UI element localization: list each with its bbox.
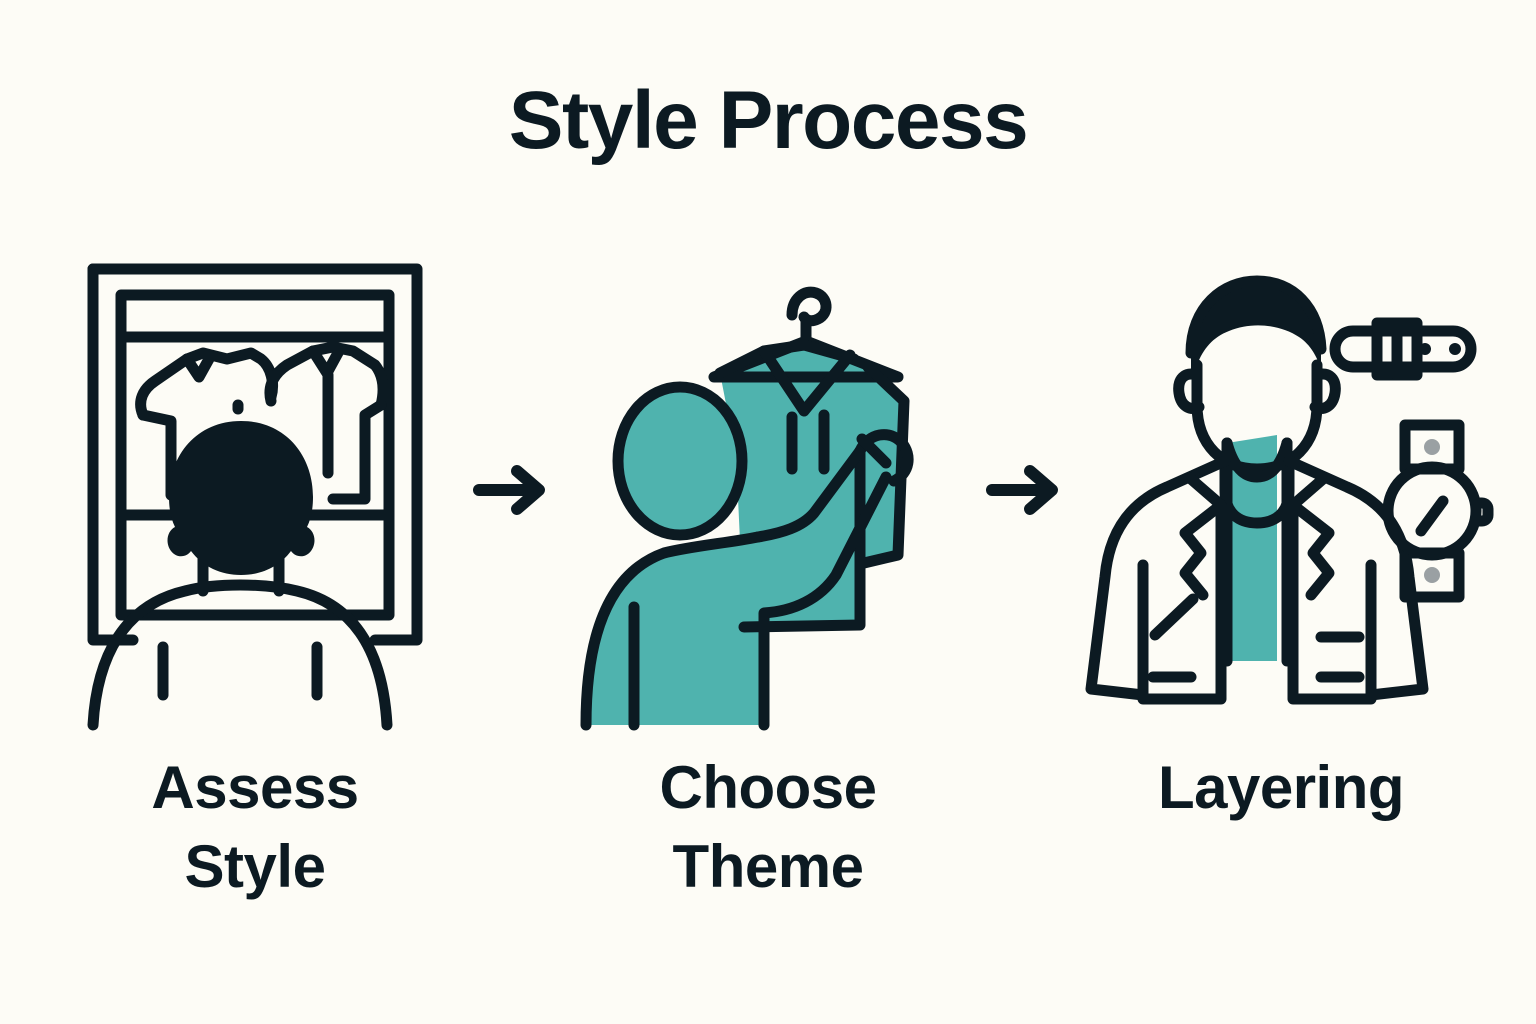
step-icon-assess-style[interactable] — [60, 250, 450, 730]
step-label-layering: Layering — [1086, 748, 1476, 827]
arrow-right-icon — [984, 459, 1066, 521]
step-icon-choose-theme[interactable] — [573, 250, 963, 730]
infographic-canvas: Style Process — [0, 0, 1536, 1024]
step-label-choose-theme: Choose Theme — [573, 748, 963, 906]
process-steps-row — [60, 240, 1476, 740]
head-silhouette — [168, 421, 315, 575]
step-label-assess-style: Assess Style — [60, 748, 450, 906]
process-labels-row: Assess Style Choose Theme Layering — [60, 748, 1476, 906]
flow-arrow-1 — [457, 430, 567, 550]
page-title: Style Process — [0, 78, 1536, 164]
person-holding-shirt-on-hanger-icon — [568, 255, 968, 725]
flow-arrow-2 — [970, 430, 1080, 550]
person-in-jacket-with-accessories-icon — [1081, 265, 1481, 715]
watch-band-dot-bottom — [1424, 567, 1440, 583]
step-icon-layering[interactable] — [1086, 250, 1476, 730]
belt-hole-left — [1419, 343, 1431, 355]
arrow-right-icon — [471, 459, 553, 521]
person-facing-wardrobe-icon — [75, 255, 435, 725]
belt-hole-right — [1449, 343, 1461, 355]
watch-band-dot-top — [1424, 439, 1440, 455]
